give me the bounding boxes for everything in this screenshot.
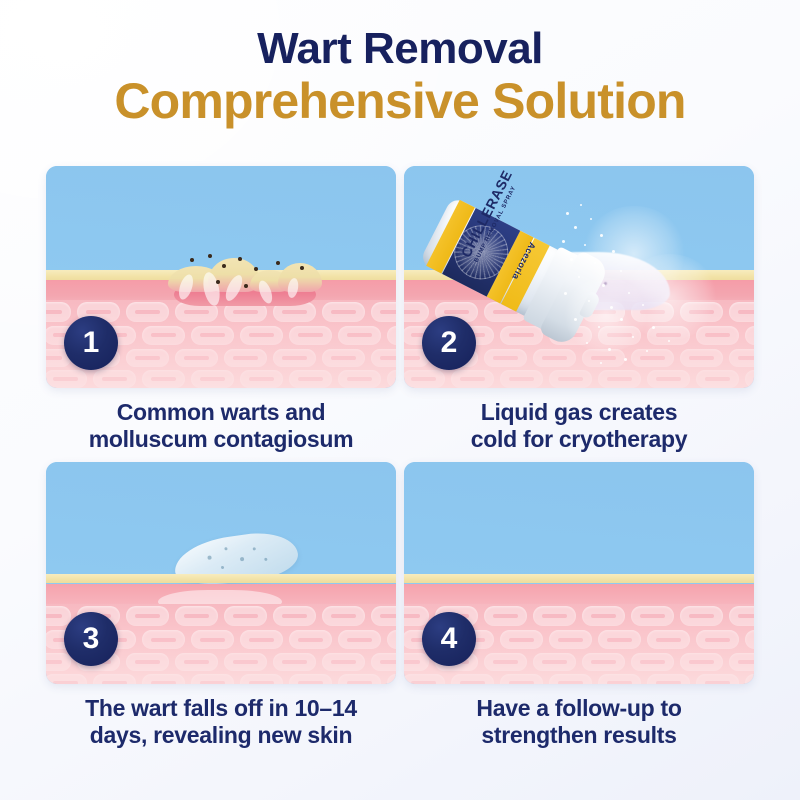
step-3-illustration: 3 bbox=[46, 462, 396, 684]
wart-seed-dot bbox=[276, 261, 280, 265]
wart-seed-dot bbox=[238, 257, 242, 261]
title-line-secondary: Comprehensive Solution bbox=[0, 74, 800, 128]
step-3: 3 The wart falls off in 10–14 days, reve… bbox=[46, 462, 396, 748]
wart-seed-dot bbox=[300, 266, 304, 270]
cell-row bbox=[46, 674, 396, 684]
step-caption: Common warts and molluscum contagiosum bbox=[46, 399, 396, 452]
step-1-illustration: 1 bbox=[46, 166, 396, 388]
step-caption: Liquid gas creates cold for cryotherapy bbox=[404, 399, 754, 452]
step-badge: 2 bbox=[422, 316, 476, 370]
title-line-primary: Wart Removal bbox=[0, 26, 800, 72]
wart-seed-dot bbox=[222, 264, 226, 268]
step-number: 2 bbox=[441, 328, 458, 358]
epidermis-layer bbox=[46, 574, 396, 583]
step-caption: Have a follow-up to strengthen results bbox=[404, 695, 754, 748]
wart-seed-dot bbox=[604, 282, 607, 285]
steps-grid: 1 Common warts and molluscum contagiosum bbox=[46, 166, 754, 749]
wart-seed-dot bbox=[208, 254, 212, 258]
epidermis-layer bbox=[404, 574, 754, 583]
step-2: CHILLERASE BUMP REMOVAL SPRAY Acezoria bbox=[404, 166, 754, 452]
step-caption: The wart falls off in 10–14 days, reveal… bbox=[46, 695, 396, 748]
wart-seed-dot bbox=[216, 280, 220, 284]
step-number: 4 bbox=[441, 624, 458, 654]
step-badge: 4 bbox=[422, 612, 476, 666]
wart-seed-dot bbox=[190, 258, 194, 262]
cell-row bbox=[46, 370, 396, 388]
step-badge: 3 bbox=[64, 612, 118, 666]
wart-removal-infographic: Wart Removal Comprehensive Solution bbox=[0, 0, 800, 800]
wart-seed-dot bbox=[244, 284, 248, 288]
wart-lesion bbox=[164, 252, 324, 292]
step-4: 4 Have a follow-up to strengthen results bbox=[404, 462, 754, 748]
step-number: 3 bbox=[83, 624, 100, 654]
step-1: 1 Common warts and molluscum contagiosum bbox=[46, 166, 396, 452]
step-4-illustration: 4 bbox=[404, 462, 754, 684]
cell-row bbox=[404, 674, 754, 684]
wart-seed-dot bbox=[254, 267, 258, 271]
step-2-illustration: CHILLERASE BUMP REMOVAL SPRAY Acezoria bbox=[404, 166, 754, 388]
page-title: Wart Removal Comprehensive Solution bbox=[0, 26, 800, 128]
cell-row bbox=[404, 370, 754, 388]
step-badge: 1 bbox=[64, 316, 118, 370]
step-number: 1 bbox=[83, 328, 100, 358]
